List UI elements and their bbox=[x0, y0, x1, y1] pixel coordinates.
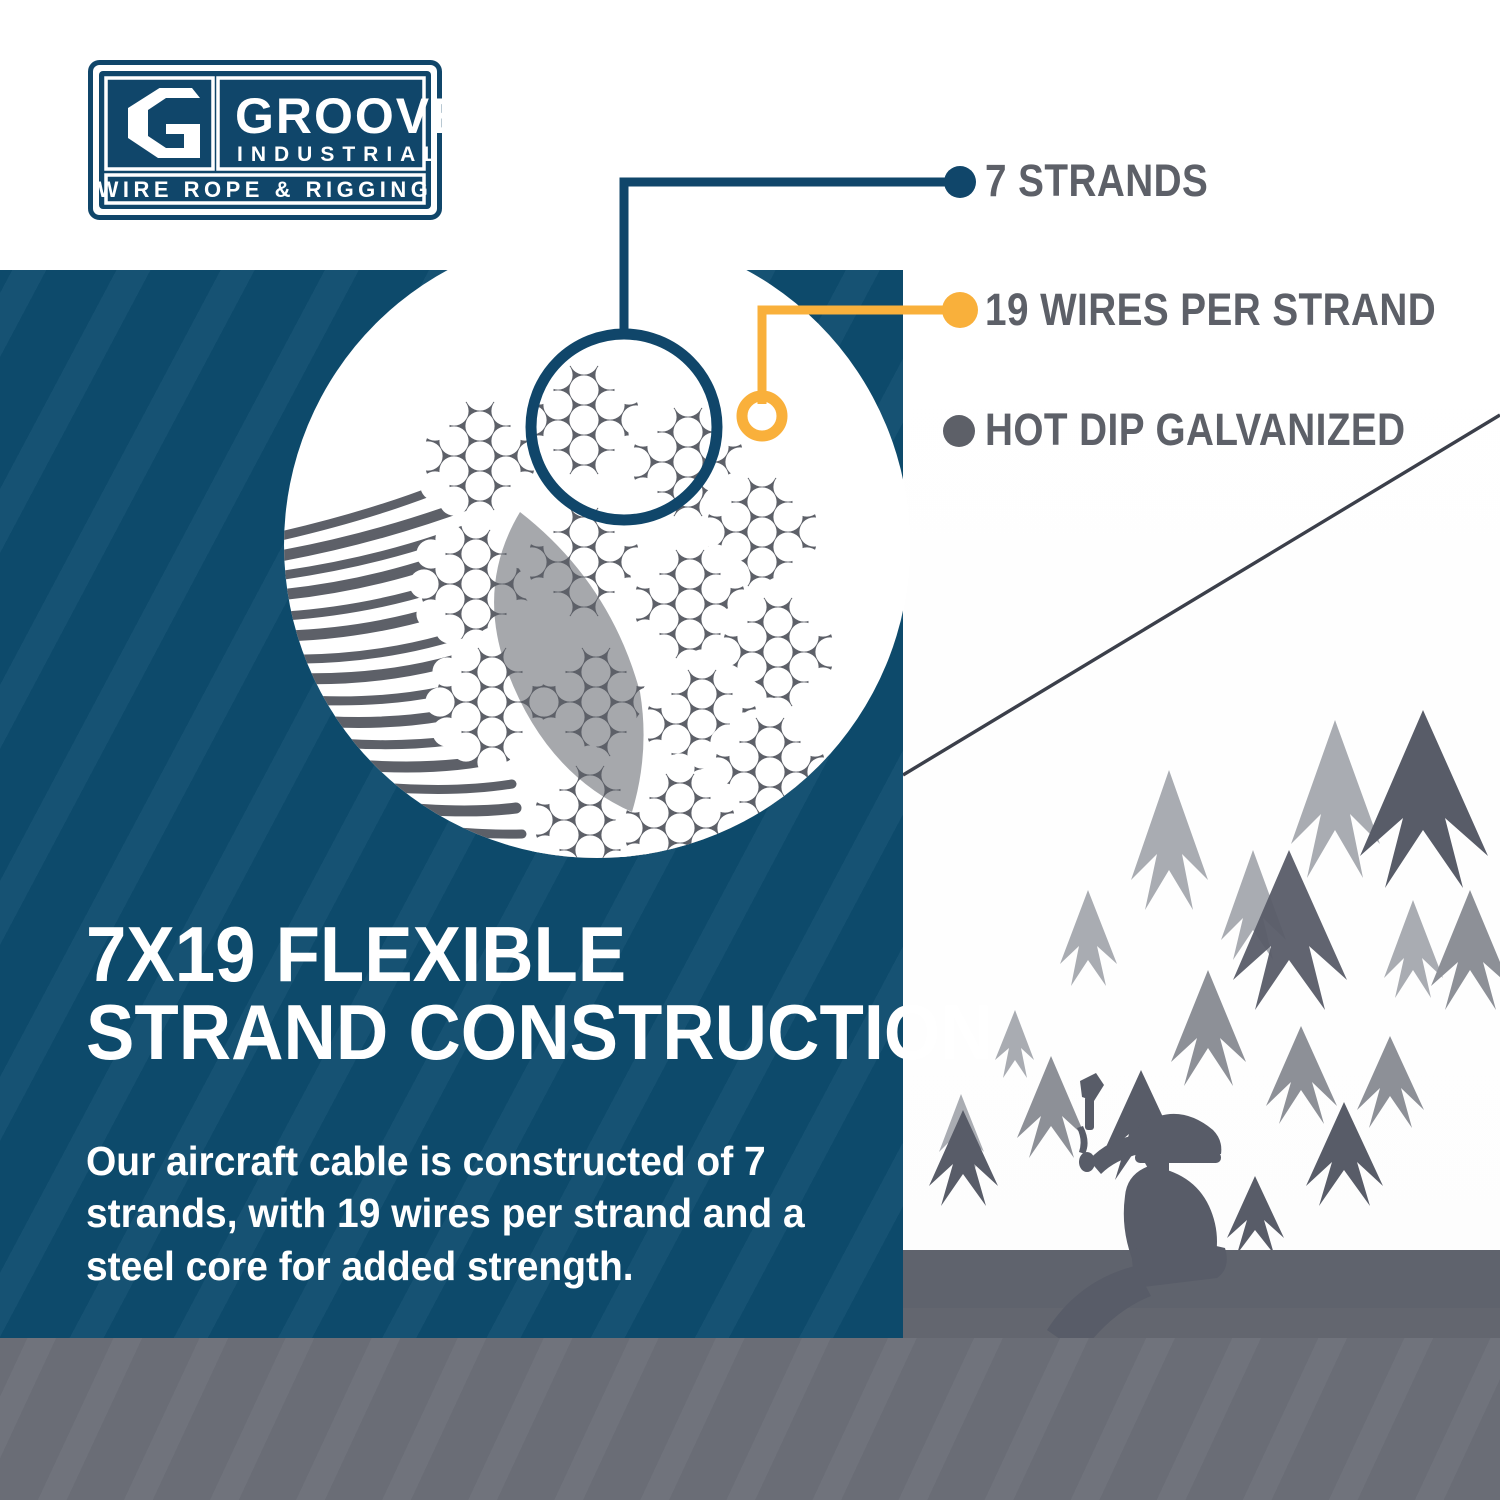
logo-tagline-text: WIRE ROPE & RIGGING bbox=[98, 177, 433, 202]
marker-dot-strands bbox=[944, 166, 976, 198]
callout-galvanized: HOT DIP GALVANIZED bbox=[985, 407, 1474, 452]
infographic-canvas: 7 STRANDS 19 WIRES PER STRAND HOT DIP GA… bbox=[0, 0, 1500, 1500]
logo-groove-text: GROOVE bbox=[235, 88, 442, 144]
description-text: Our aircraft cable is constructed of 7 s… bbox=[86, 1135, 770, 1292]
headline-line-2: STRAND CONSTRUCTION bbox=[86, 993, 821, 1071]
body-line-1: Our aircraft cable is constructed of 7 bbox=[86, 1135, 770, 1187]
logo-industrial-text: INDUSTRIAL bbox=[237, 143, 442, 166]
cable-body bbox=[284, 345, 845, 892]
bottom-gray-band bbox=[0, 1338, 1500, 1500]
body-line-3: steel core for added strength. bbox=[86, 1240, 770, 1292]
groove-industrial-logo-icon: GROOVE INDUSTRIAL WIRE ROPE & RIGGING bbox=[88, 60, 442, 220]
callout-wires: 19 WIRES PER STRAND bbox=[985, 287, 1500, 332]
body-line-2: strands, with 19 wires per strand and a bbox=[86, 1187, 770, 1239]
callout-wires-label: 19 WIRES PER STRAND bbox=[985, 287, 1436, 332]
gray-band-stripes bbox=[0, 1338, 1500, 1500]
page-title: 7X19 FLEXIBLE STRAND CONSTRUCTION bbox=[86, 915, 821, 1071]
callout-strands: 7 STRANDS bbox=[985, 158, 1245, 203]
callout-galvanized-label: HOT DIP GALVANIZED bbox=[985, 407, 1406, 452]
wire-rope-cross-section-illustration bbox=[284, 232, 964, 892]
callout-strands-label: 7 STRANDS bbox=[985, 158, 1208, 203]
headline-line-1: 7X19 FLEXIBLE bbox=[86, 915, 821, 993]
brand-logo[interactable]: GROOVE INDUSTRIAL WIRE ROPE & RIGGING bbox=[88, 60, 442, 220]
